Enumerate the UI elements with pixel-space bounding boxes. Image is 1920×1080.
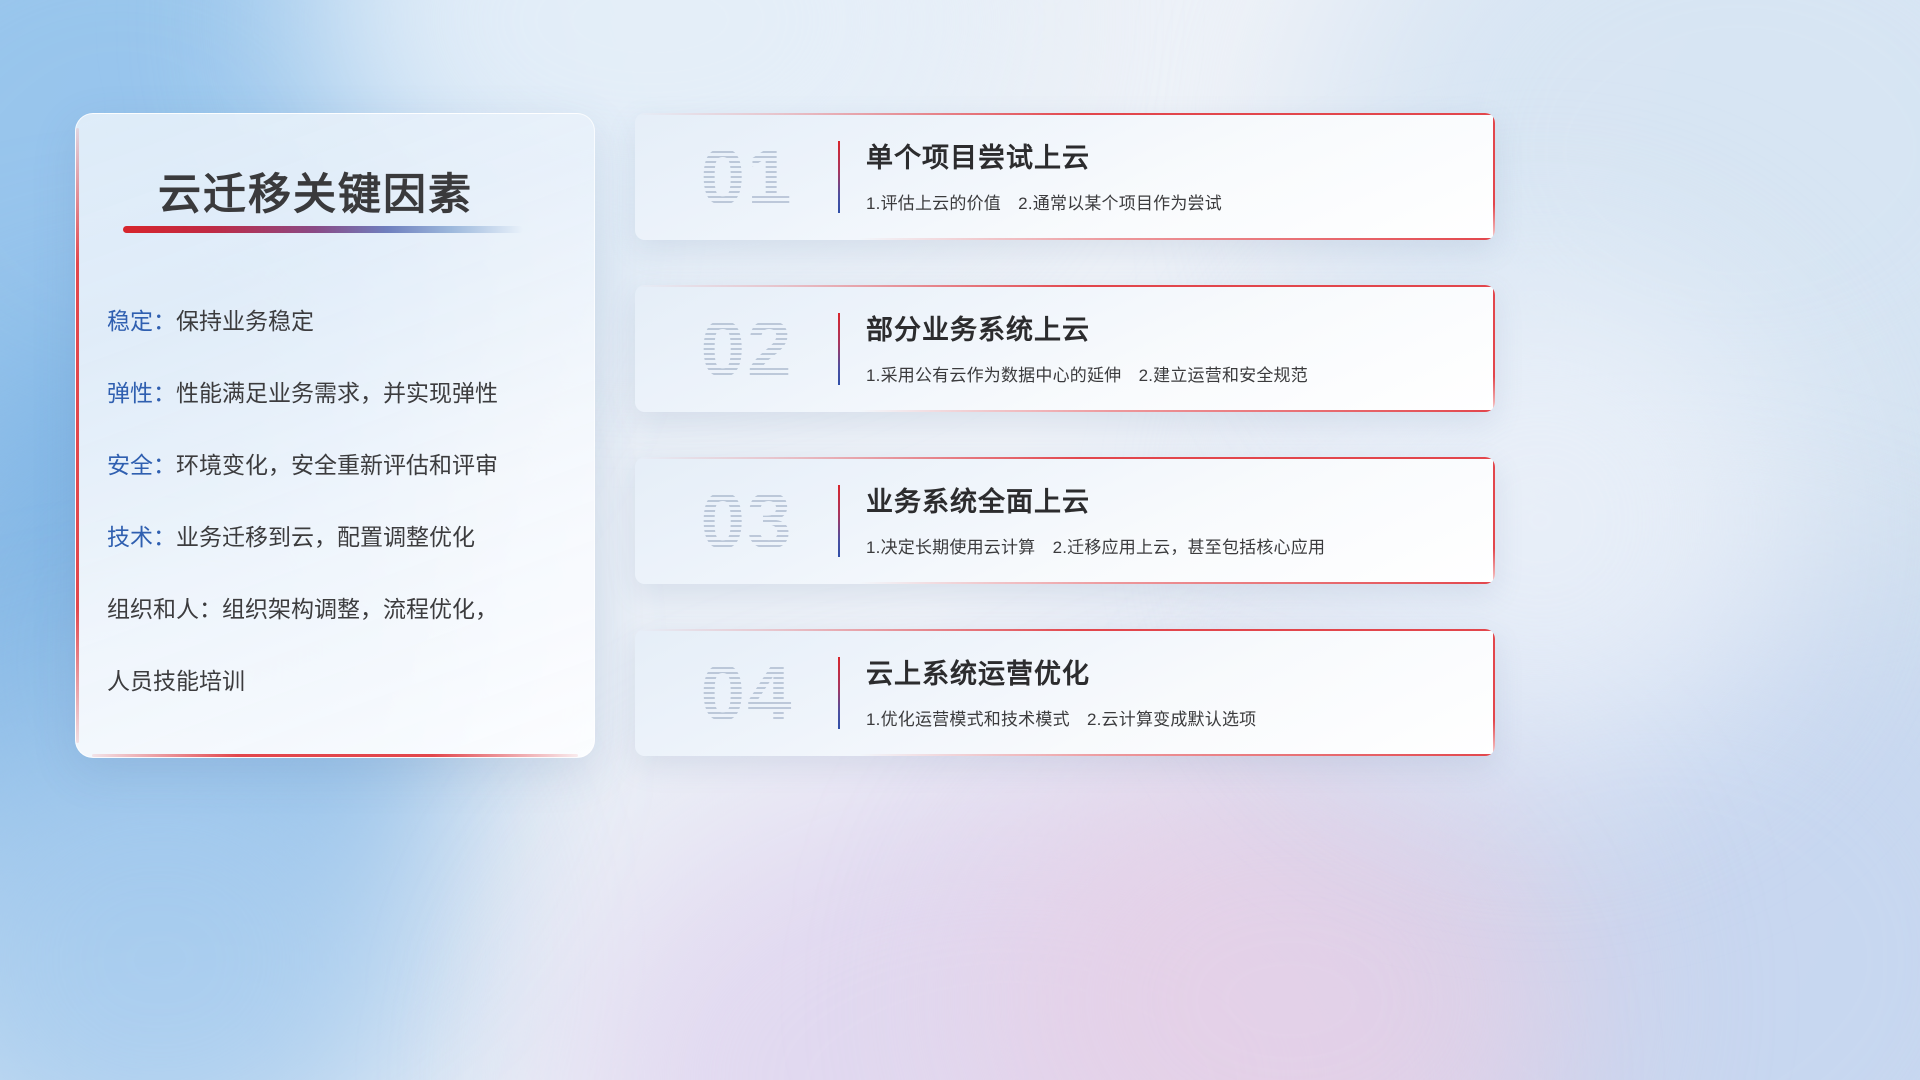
card-bottom-accent (859, 238, 1495, 240)
list-item: 技术：业务迁移到云，配置调整优化 (107, 526, 574, 549)
list-item: 弹性：性能满足业务需求，并实现弹性 (107, 382, 574, 405)
stage-card[interactable]: 02 部分业务系统上云 1.采用公有云作为数据中心的延伸 2.建立运营和安全规范 (635, 285, 1495, 412)
card-bottom-accent (859, 410, 1495, 412)
page-title: 云迁移关键因素 (158, 160, 473, 222)
stage-number-text: 01 (701, 131, 794, 223)
stage-description: 1.优化运营模式和技术模式 2.云计算变成默认选项 (866, 705, 1256, 730)
list-item-key: 组织和人： (107, 596, 222, 622)
stage-number: 04 (657, 643, 837, 743)
list-item-text: 人员技能培训 (107, 668, 245, 694)
stage-divider (838, 141, 840, 213)
stage-number: 03 (657, 471, 837, 571)
stage-card[interactable]: 03 业务系统全面上云 1.决定长期使用云计算 2.迁移应用上云，甚至包括核心应… (635, 457, 1495, 584)
stage-description: 1.采用公有云作为数据中心的延伸 2.建立运营和安全规范 (866, 361, 1308, 386)
list-item-key: 稳定： (107, 308, 176, 334)
stage-card[interactable]: 01 单个项目尝试上云 1.评估上云的价值 2.通常以某个项目作为尝试 (635, 113, 1495, 240)
stage-title: 业务系统全面上云 (866, 480, 1090, 519)
card-bottom-accent (859, 754, 1495, 756)
stage-number: 02 (657, 299, 837, 399)
stage-number-text: 03 (701, 475, 794, 567)
stage-number-text: 04 (701, 647, 794, 739)
stage-number: 01 (657, 127, 837, 227)
list-item: 安全：环境变化，安全重新评估和评审 (107, 454, 574, 477)
list-item: 人员技能培训 (107, 670, 574, 693)
stage-number-text: 02 (701, 303, 794, 395)
list-item-key: 弹性： (107, 380, 176, 406)
stage-description: 1.决定长期使用云计算 2.迁移应用上云，甚至包括核心应用 (866, 533, 1325, 558)
list-item-text: 性能满足业务需求，并实现弹性 (176, 380, 498, 406)
stage-title: 云上系统运营优化 (866, 652, 1090, 691)
list-item-key: 技术： (107, 524, 176, 550)
stage-divider (838, 313, 840, 385)
list-item-text: 业务迁移到云，配置调整优化 (176, 524, 475, 550)
stage-divider (838, 657, 840, 729)
stage-card[interactable]: 04 云上系统运营优化 1.优化运营模式和技术模式 2.云计算变成默认选项 (635, 629, 1495, 756)
list-item: 组织和人：组织架构调整，流程优化， (107, 598, 574, 621)
list-item-text: 保持业务稳定 (176, 308, 314, 334)
key-factors-list: 稳定：保持业务稳定 弹性：性能满足业务需求，并实现弹性 安全：环境变化，安全重新… (107, 310, 574, 742)
stage-divider (838, 485, 840, 557)
stage-title: 部分业务系统上云 (866, 308, 1090, 347)
list-item: 稳定：保持业务稳定 (107, 310, 574, 333)
stage-card-list: 01 单个项目尝试上云 1.评估上云的价值 2.通常以某个项目作为尝试 02 部… (635, 113, 1495, 801)
stage-title: 单个项目尝试上云 (866, 136, 1090, 175)
list-item-text: 组织架构调整，流程优化， (222, 596, 498, 622)
key-factors-panel: 云迁移关键因素 稳定：保持业务稳定 弹性：性能满足业务需求，并实现弹性 安全：环… (75, 113, 595, 758)
title-underline-rule (123, 226, 523, 233)
card-bottom-accent (859, 582, 1495, 584)
list-item-key: 安全： (107, 452, 176, 478)
stage-description: 1.评估上云的价值 2.通常以某个项目作为尝试 (866, 189, 1222, 214)
list-item-text: 环境变化，安全重新评估和评审 (176, 452, 498, 478)
